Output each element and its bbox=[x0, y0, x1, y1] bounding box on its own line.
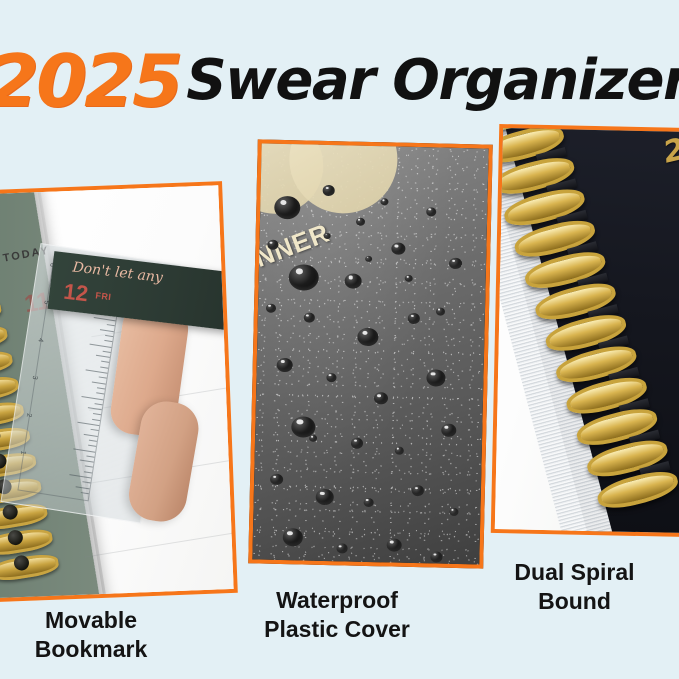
title-year: 2025 bbox=[0, 45, 188, 117]
ruler-tick bbox=[95, 403, 103, 405]
feature-photo-movable-bookmark: TODAY 11 654321 Don't let any 12 FRI bbox=[0, 181, 238, 603]
ruler-tick bbox=[88, 445, 96, 447]
waterproof-surface: NNER bbox=[252, 143, 488, 564]
ruler-tick bbox=[90, 343, 112, 347]
ruler-tick bbox=[97, 387, 105, 389]
ruler-tick bbox=[84, 433, 98, 436]
water-droplet bbox=[412, 485, 424, 496]
water-droplet bbox=[336, 543, 347, 553]
ruler-tick bbox=[107, 324, 115, 326]
water-droplet bbox=[449, 508, 458, 516]
coil-ring bbox=[0, 348, 14, 380]
water-droplet bbox=[266, 304, 276, 313]
water-droplet bbox=[283, 528, 303, 546]
ruler-tick bbox=[100, 329, 114, 332]
ruler-tick bbox=[85, 466, 93, 468]
water-droplet bbox=[395, 447, 404, 455]
ruler-tick bbox=[84, 471, 92, 473]
water-droplet bbox=[430, 551, 442, 562]
ruler-tick bbox=[92, 419, 100, 421]
ruler-tick bbox=[94, 317, 116, 321]
ruler-tick bbox=[73, 448, 95, 452]
water-droplet bbox=[323, 185, 335, 196]
page-title: 2025 Swear Organizer bbox=[0, 42, 679, 120]
ruler-tick bbox=[82, 481, 90, 483]
water-droplet bbox=[426, 369, 445, 386]
bookmark-day-of-week: FRI bbox=[95, 290, 112, 302]
ruler-tick bbox=[99, 377, 107, 379]
water-droplet bbox=[274, 196, 301, 219]
ruler-tick bbox=[88, 407, 102, 410]
ruler-tick bbox=[105, 335, 113, 337]
bookmark-day-number: 12 bbox=[62, 279, 89, 308]
ruler-tick bbox=[76, 486, 90, 489]
ruler-tick bbox=[100, 366, 108, 368]
caption-waterproof-plastic-cover: Waterproof Plastic Cover bbox=[222, 586, 452, 644]
ruler-tick bbox=[104, 340, 112, 342]
ruler-tick bbox=[81, 492, 89, 494]
ruler-number: 2 bbox=[25, 413, 33, 418]
ruler-tick bbox=[103, 351, 111, 353]
water-droplet bbox=[351, 438, 363, 449]
caption-movable-bookmark: Movable Bookmark bbox=[0, 606, 182, 664]
ruler-tick bbox=[89, 440, 97, 442]
coil-ring bbox=[0, 297, 3, 329]
ruler-tick bbox=[69, 474, 91, 478]
water-droplet bbox=[267, 240, 278, 250]
water-droplet bbox=[408, 313, 420, 324]
ruler-tick bbox=[101, 361, 109, 363]
ruler-tick bbox=[96, 392, 104, 394]
coil-ring bbox=[0, 551, 60, 583]
water-droplet bbox=[356, 218, 365, 226]
caption-dual-spiral-bound: Dual Spiral Bound bbox=[470, 558, 679, 616]
ruler-tick bbox=[93, 413, 101, 415]
coil-ring bbox=[0, 323, 9, 355]
ruler-number: 3 bbox=[31, 375, 39, 380]
feature-photo-dual-spiral: 2 bbox=[491, 124, 679, 537]
ruler-tick bbox=[77, 422, 99, 426]
ruler-tick bbox=[92, 381, 106, 384]
water-droplet bbox=[436, 307, 445, 315]
water-droplet bbox=[426, 207, 436, 216]
water-droplet bbox=[364, 498, 374, 507]
water-droplet bbox=[326, 373, 336, 382]
ruler-number: 4 bbox=[36, 338, 44, 343]
ruler-tick bbox=[96, 355, 110, 358]
planner-photo-left: TODAY 11 654321 Don't let any 12 FRI bbox=[0, 185, 234, 599]
ruler-tick bbox=[90, 429, 98, 431]
water-droplet bbox=[304, 312, 315, 322]
ruler-tick bbox=[86, 369, 108, 373]
title-product-name: Swear Organizer bbox=[186, 53, 679, 109]
product-infographic: 2025 Swear Organizer TODAY 11 654321 Don… bbox=[0, 0, 679, 679]
feature-photo-waterproof-cover: NNER bbox=[248, 139, 493, 568]
ruler-tick bbox=[86, 455, 94, 457]
ruler-number: 1 bbox=[19, 450, 27, 455]
water-droplet bbox=[316, 489, 334, 505]
ruler-tick bbox=[80, 460, 94, 463]
ruler-tick bbox=[82, 396, 104, 400]
